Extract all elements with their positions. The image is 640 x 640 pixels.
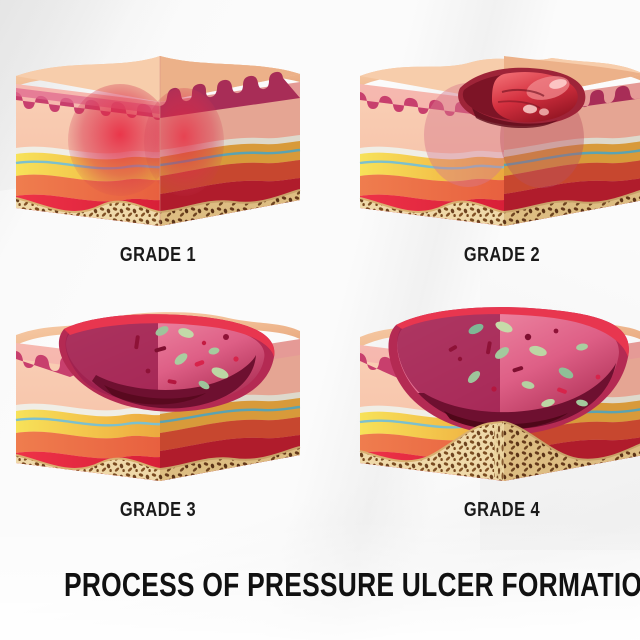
skin-cross-section-grade-4 [352,285,640,500]
right-face-grade-1 [144,72,300,226]
grade-label-2: GRADE 2 [379,244,625,267]
skin-cross-section-grade-1 [8,30,308,245]
page-title: PROCESS OF PRESSURE ULCER FORMATION [64,566,576,604]
grade-label-1: GRADE 1 [35,244,281,267]
panel-grade-2: GRADE 2 [352,30,640,290]
skin-cross-section-grade-2 [352,30,640,245]
panel-grade-3: GRADE 3 [8,285,308,545]
illustration-canvas: GRADE 1 [0,0,640,640]
grade-label-4: GRADE 4 [379,499,625,522]
grade-label-3: GRADE 3 [35,499,281,522]
skin-cross-section-grade-3 [8,285,308,500]
panel-grade-1: GRADE 1 [8,30,308,290]
panel-grade-4: GRADE 4 [352,285,640,545]
